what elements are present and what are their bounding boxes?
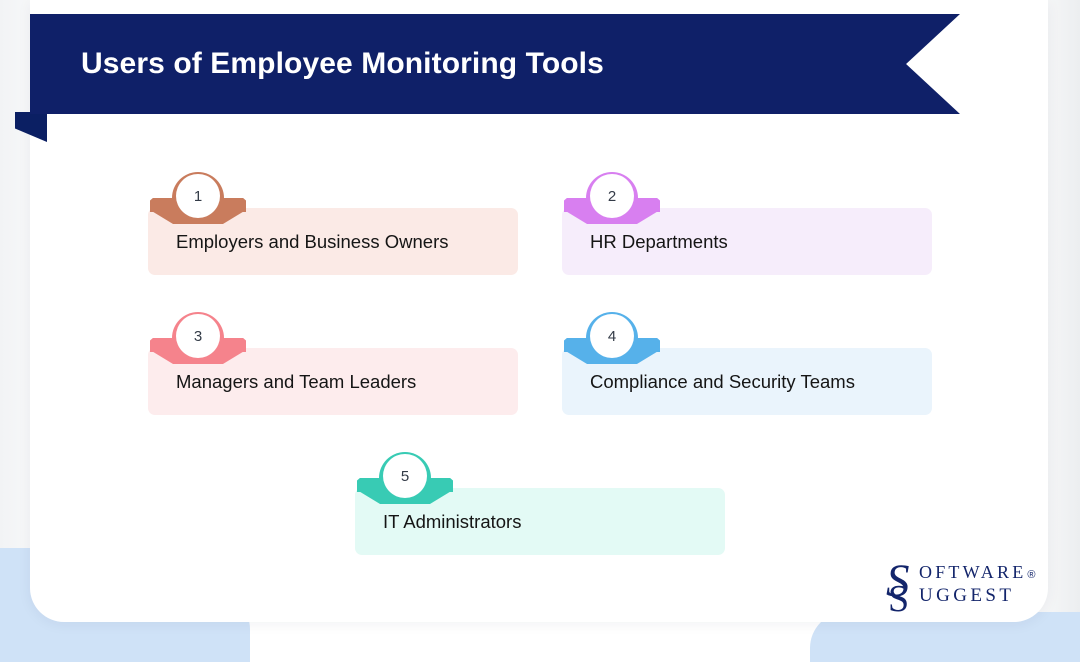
card-label: Managers and Team Leaders (148, 358, 434, 406)
ribbon-band: Users of Employee Monitoring Tools (30, 14, 960, 114)
card-number-badge: 3 (176, 314, 220, 358)
logo-word-software: OFTWARE (919, 562, 1026, 583)
card-tab-ribbon-icon: 2 (564, 168, 660, 214)
card-tab-ribbon-icon: 4 (564, 308, 660, 354)
card-label: IT Administrators (355, 498, 539, 546)
softwaresuggest-logo: S OFTWARE ® S UGGEST (886, 560, 1036, 612)
card-tab-ribbon-icon: 3 (150, 308, 246, 354)
logo-letter-s-bottom: S (888, 580, 909, 618)
card-tab-ribbon-icon: 1 (150, 168, 246, 214)
registered-trademark-icon: ® (1027, 569, 1035, 581)
card-number-badge: 5 (383, 454, 427, 498)
page-title: Users of Employee Monitoring Tools (81, 47, 604, 81)
card-label: HR Departments (562, 218, 746, 266)
logo-word-suggest: UGGEST (919, 585, 1014, 607)
card-tab-ribbon-icon: 5 (357, 448, 453, 494)
card-number-badge: 4 (590, 314, 634, 358)
card-number-badge: 2 (590, 174, 634, 218)
card-number-badge: 1 (176, 174, 220, 218)
header-ribbon: Users of Employee Monitoring Tools (15, 14, 960, 126)
card-label: Compliance and Security Teams (562, 358, 873, 406)
card-label: Employers and Business Owners (148, 218, 466, 266)
